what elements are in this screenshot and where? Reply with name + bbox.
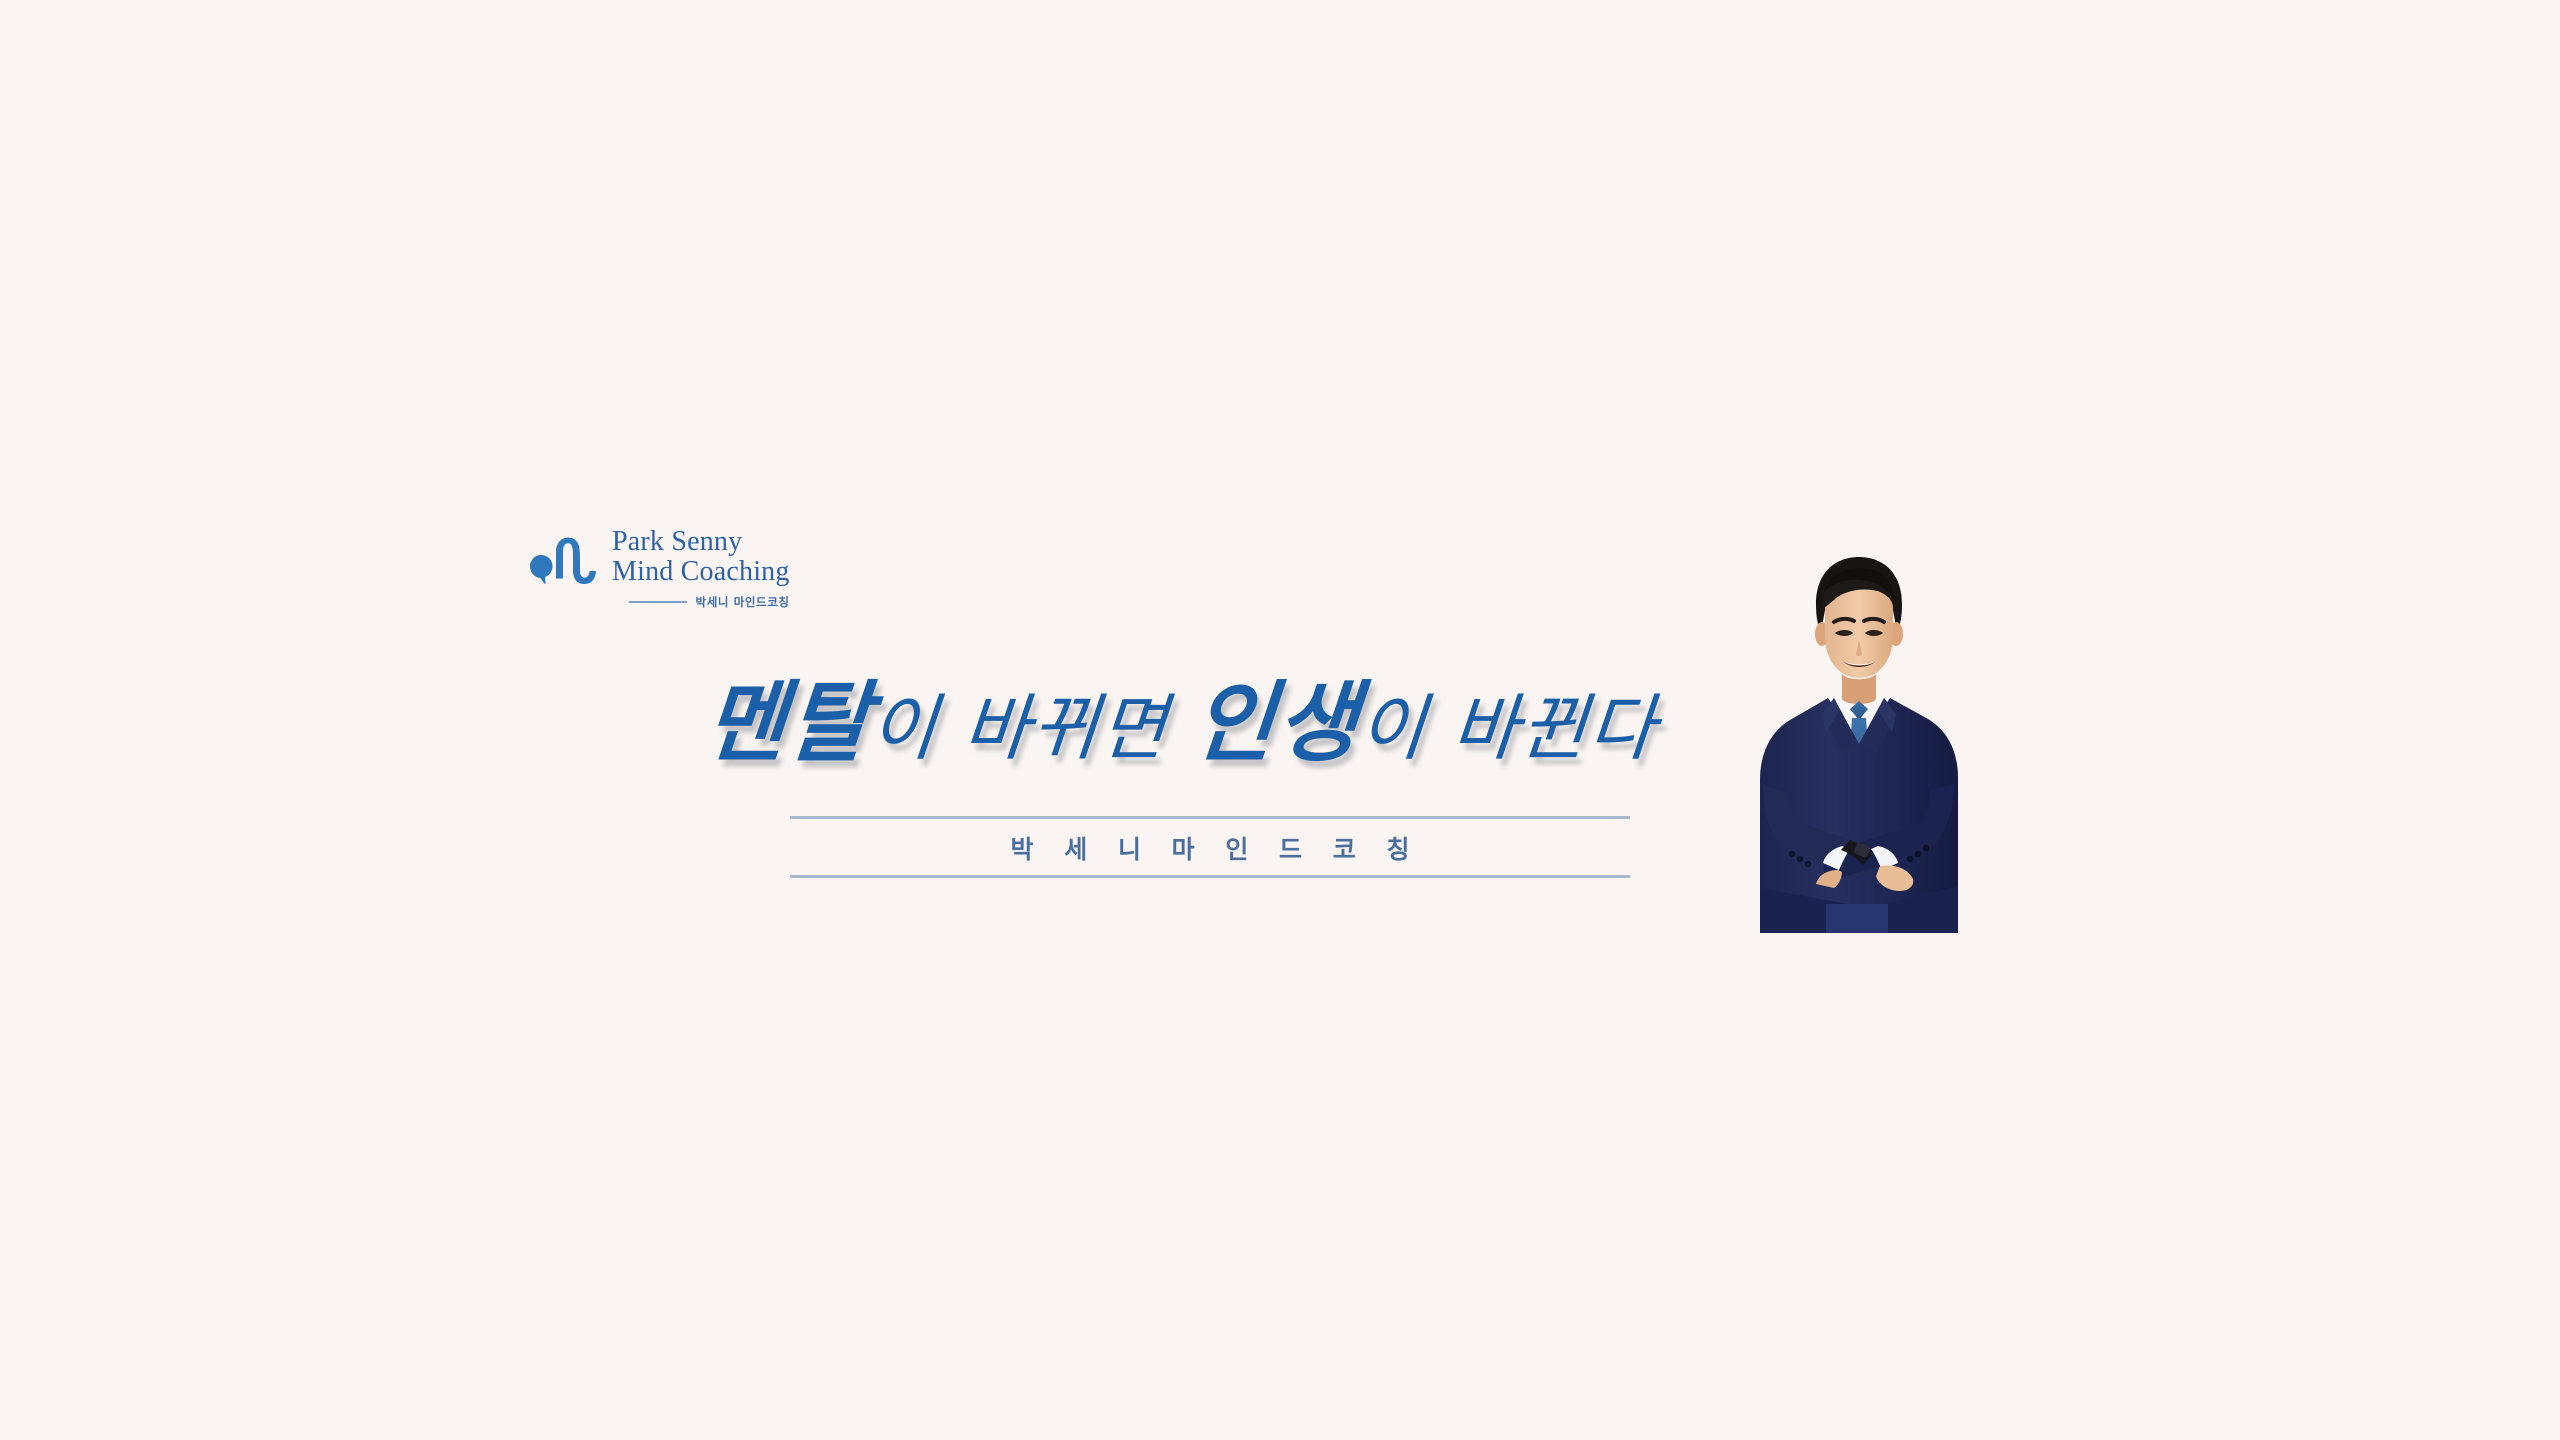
headline-segment-3: 바뀌면: [960, 686, 1172, 770]
brand-name-line-2: Mind Coaching: [612, 557, 790, 587]
headline-segment-2: 이: [867, 686, 943, 770]
headline-segment-5: 이: [1355, 686, 1431, 770]
banner-stage: Park Senny Mind Coaching 박세니 마인드코칭 멘탈이 바…: [0, 0, 2560, 1440]
park-senny-m-monogram-icon: [528, 531, 598, 589]
brand-korean-subtext-row: 박세니 마인드코칭: [629, 594, 790, 610]
brand-korean-subtext: 박세니 마인드코칭: [696, 594, 790, 610]
hero-subtitle: 박 세 니 마 인 드 코 칭: [790, 819, 1630, 875]
subtitle-rule-bottom: [790, 875, 1630, 878]
hero-headline: 멘탈이 바뀌면 인생이 바뀐다: [700, 668, 1750, 780]
brand-logo-text: Park Senny Mind Coaching 박세니 마인드코칭: [612, 527, 790, 610]
headline-segment-6: 바뀐다: [1449, 686, 1661, 770]
brand-logo-lockup[interactable]: Park Senny Mind Coaching 박세니 마인드코칭: [528, 527, 790, 610]
headline-segment-4: 인생: [1189, 671, 1364, 774]
coach-portrait: [1730, 548, 1988, 933]
headline-segment-1: 멘탈: [701, 671, 876, 774]
hero-subtitle-block: 박 세 니 마 인 드 코 칭: [790, 816, 1630, 878]
brand-subtext-rule: [629, 601, 687, 603]
brand-name-line-1: Park Senny: [612, 527, 742, 557]
